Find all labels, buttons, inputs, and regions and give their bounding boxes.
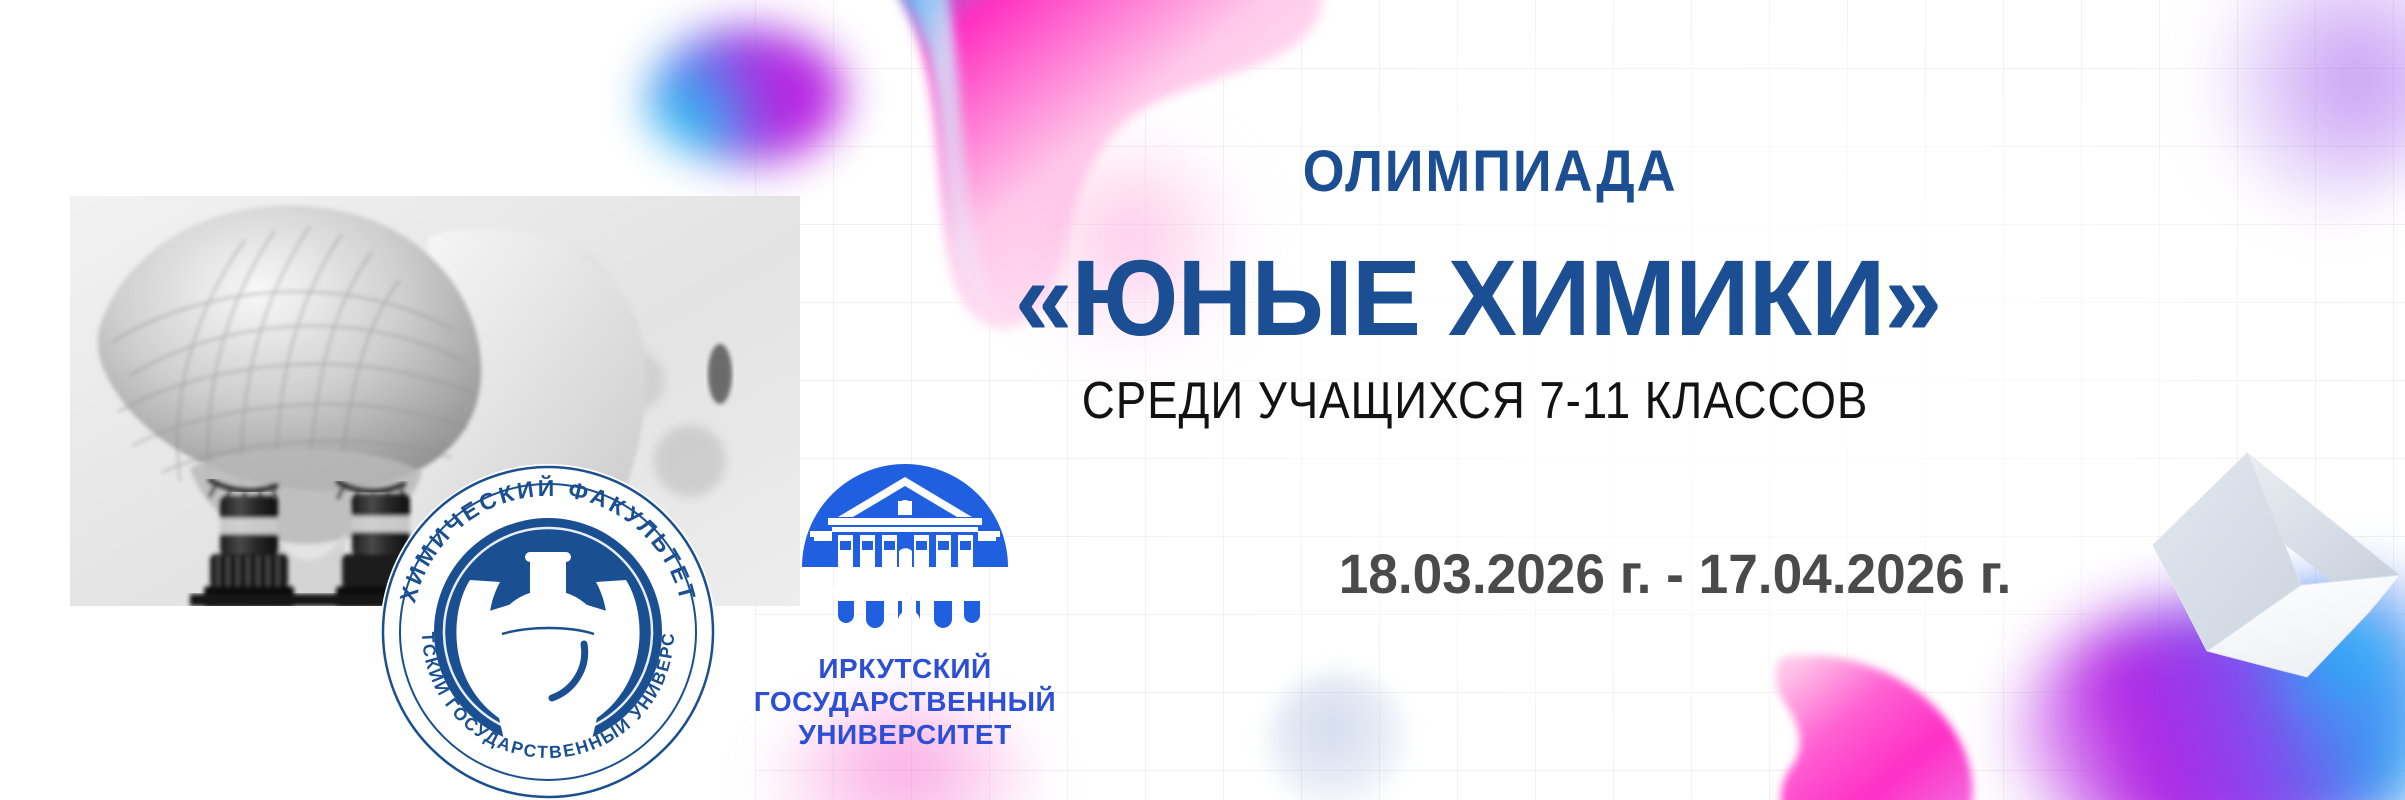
chemistry-faculty-emblem: ХИМИЧЕСКИЙ ФАКУЛЬТЕТ ИРКУТСКИЙ ГОСУДАРСТ… [378, 462, 718, 800]
olympiad-title: «ЮНЫЕ ХИМИКИ» [854, 242, 2102, 354]
magenta-teardrop-blob [1770, 640, 1990, 800]
olympiad-banner: ХИМИЧЕСКИЙ ФАКУЛЬТЕТ ИРКУТСКИЙ ГОСУДАРСТ… [0, 0, 2405, 800]
isu-logo-caption: ИРКУТСКИЙ ГОСУДАРСТВЕННЫЙ УНИВЕРСИТЕТ [700, 652, 1110, 751]
lavender-haze-blob [2195, 0, 2405, 210]
irkutsk-state-university-logo [760, 455, 1050, 685]
soft-blue-circle-blob [1268, 672, 1408, 800]
isu-caption-line-1: ИРКУТСКИЙ [700, 652, 1110, 685]
isu-caption-line-2: ГОСУДАРСТВЕННЫЙ [700, 685, 1110, 718]
purple-cyan-pill-blob [648, 28, 843, 163]
isu-caption-line-3: УНИВЕРСИТЕТ [700, 718, 1110, 751]
olympiad-dates: 18.03.2026 г. - 17.04.2026 г. [1072, 543, 2279, 605]
olympiad-subtitle: СРЕДИ УЧАЩИХСЯ 7-11 КЛАССОВ [916, 372, 2034, 430]
olympiad-kicker: ОЛИМПИАДА [899, 141, 2080, 203]
